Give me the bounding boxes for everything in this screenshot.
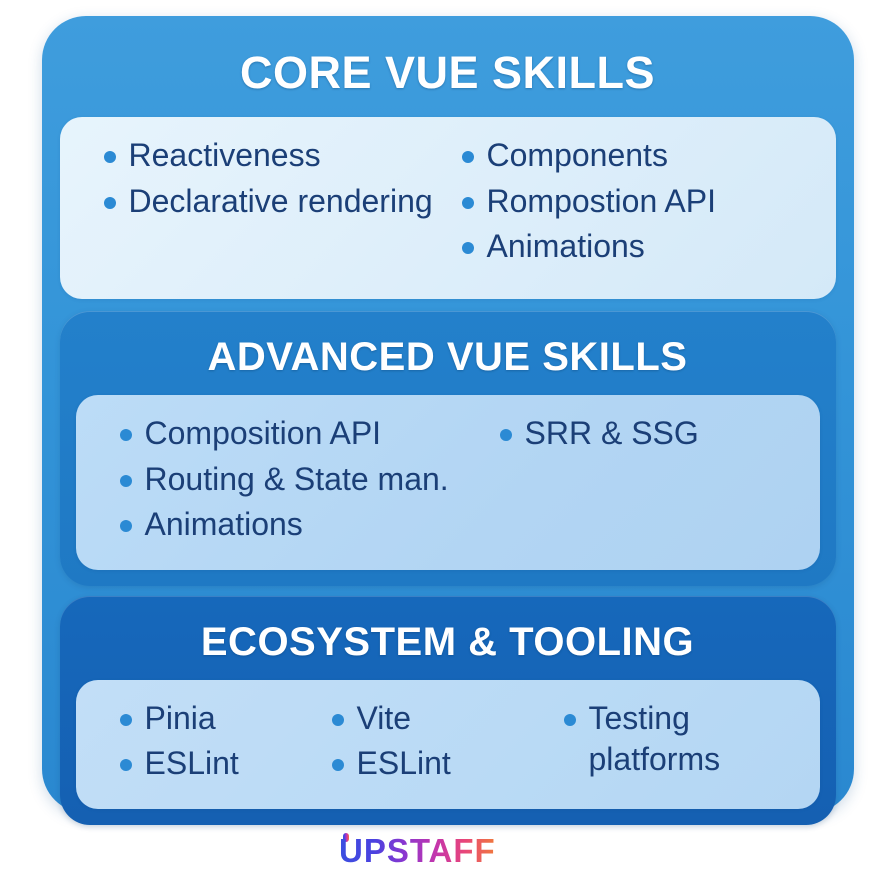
list-item: Vite — [332, 698, 546, 740]
skill-column-core-2: Components Rompostion API Animations — [448, 135, 814, 272]
list-item: Routing & State man. — [120, 459, 490, 501]
list-item: ESLint — [120, 743, 322, 785]
list-item: ESLint — [332, 743, 546, 785]
skill-column-ecosystem-2: Vite ESLint — [322, 698, 546, 789]
skill-label: Animations — [487, 226, 814, 268]
list-item: Reactiveness — [104, 135, 448, 177]
section-title-ecosystem: ECOSYSTEM & TOOLING — [76, 604, 820, 680]
bullet-icon — [120, 429, 132, 441]
list-item: Composition API — [120, 413, 490, 455]
skill-label: Reactiveness — [129, 135, 448, 177]
brand-name-text: UPSTAFF — [339, 832, 496, 869]
section-advanced: ADVANCED VUE SKILLS Composition API Rout… — [60, 311, 836, 586]
section-title-core: CORE VUE SKILLS — [60, 30, 836, 117]
list-item: SRR & SSG — [500, 413, 798, 455]
skill-column-ecosystem-3: Testing platforms — [546, 698, 798, 785]
bullet-icon — [120, 475, 132, 487]
skill-label: ESLint — [357, 743, 546, 785]
skill-label: Rompostion API — [487, 181, 814, 223]
skill-label: Animations — [145, 504, 490, 546]
list-item: Declarative rendering — [104, 181, 448, 223]
brand-logo: UPSTAFF — [333, 827, 563, 871]
skill-label: Testing platforms — [589, 698, 798, 781]
skill-label: Components — [487, 135, 814, 177]
bullet-icon — [120, 759, 132, 771]
skill-column-core-1: Reactiveness Declarative rendering — [82, 135, 448, 226]
skill-column-ecosystem-1: Pinia ESLint — [98, 698, 322, 789]
bullet-icon — [332, 714, 344, 726]
skill-column-advanced-2: SRR & SSG — [490, 413, 798, 459]
skill-label: Vite — [357, 698, 546, 740]
list-item: Animations — [462, 226, 814, 268]
bullet-icon — [120, 520, 132, 532]
list-item: Testing platforms — [564, 698, 798, 781]
bullet-icon — [462, 197, 474, 209]
section-core: CORE VUE SKILLS Reactiveness Declarative… — [60, 30, 836, 305]
skill-label: ESLint — [145, 743, 322, 785]
list-item: Components — [462, 135, 814, 177]
bullet-icon — [564, 714, 576, 726]
section-ecosystem: ECOSYSTEM & TOOLING Pinia ESLint — [60, 596, 836, 825]
skill-card-advanced: Composition API Routing & State man. Ani… — [76, 395, 820, 570]
skill-column-advanced-1: Composition API Routing & State man. Ani… — [98, 413, 490, 550]
bullet-icon — [500, 429, 512, 441]
list-item: Rompostion API — [462, 181, 814, 223]
skill-label: SRR & SSG — [525, 413, 798, 455]
list-item: Animations — [120, 504, 490, 546]
bullet-icon — [104, 151, 116, 163]
bullet-icon — [104, 197, 116, 209]
skill-label: Composition API — [145, 413, 490, 455]
skills-frame: CORE VUE SKILLS Reactiveness Declarative… — [42, 16, 854, 813]
infographic-poster: CORE VUE SKILLS Reactiveness Declarative… — [0, 0, 895, 894]
skill-card-ecosystem: Pinia ESLint Vite ESLint — [76, 680, 820, 809]
upstaff-wordmark-icon: UPSTAFF — [333, 829, 563, 869]
skill-label: Declarative rendering — [129, 181, 448, 223]
list-item: Pinia — [120, 698, 322, 740]
bullet-icon — [332, 759, 344, 771]
section-title-advanced: ADVANCED VUE SKILLS — [76, 319, 820, 395]
skill-label: Pinia — [145, 698, 322, 740]
skill-label: Routing & State man. — [145, 459, 490, 501]
bullet-icon — [462, 151, 474, 163]
skill-card-core: Reactiveness Declarative rendering Compo… — [60, 117, 836, 299]
bullet-icon — [120, 714, 132, 726]
bullet-icon — [462, 242, 474, 254]
